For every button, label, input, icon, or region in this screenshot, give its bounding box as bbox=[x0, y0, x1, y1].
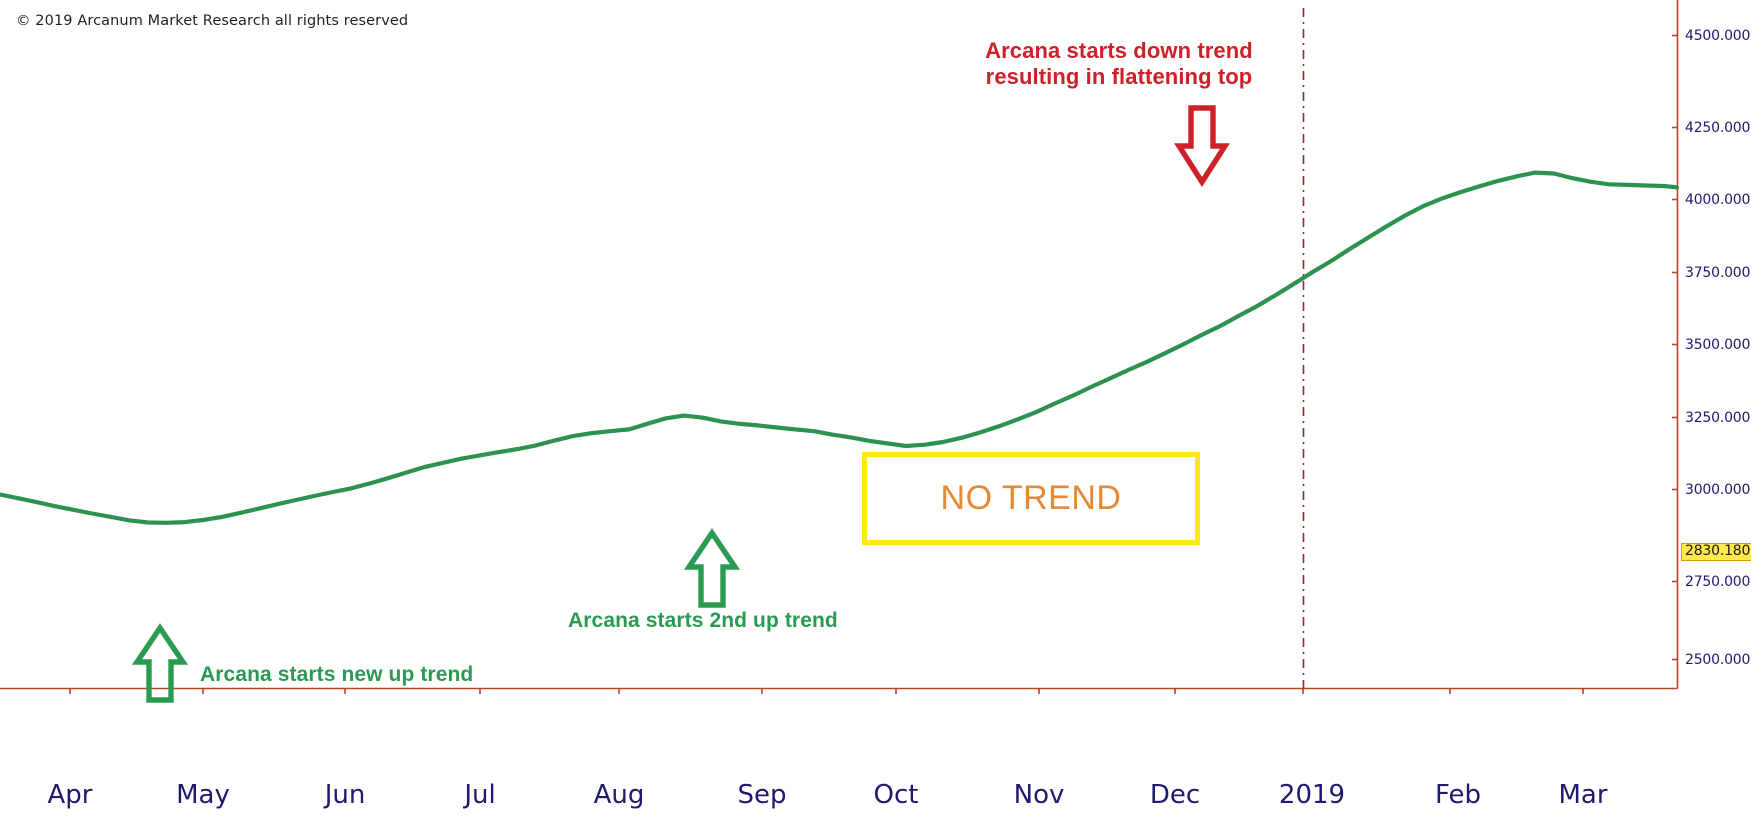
annotation-down-trend-line2: resulting in flattening top bbox=[985, 64, 1253, 90]
x-tick-label-dec: Dec bbox=[1150, 780, 1200, 810]
x-tick-label-feb: Feb bbox=[1435, 780, 1481, 810]
annotation-second-up-trend: Arcana starts 2nd up trend bbox=[568, 608, 838, 633]
y-tick-label-3250: 3250.0000 bbox=[1685, 410, 1751, 426]
y-tick-label-4500: 4500.0000 bbox=[1685, 28, 1751, 44]
chart-screenshot: © 2019 Arcanum Market Research all right… bbox=[0, 0, 1751, 828]
y-tick-label-3000: 3000.0000 bbox=[1685, 482, 1751, 498]
y-tick-label-2500: 2500.0000 bbox=[1685, 652, 1751, 668]
no-trend-callout-box: NO TREND bbox=[862, 452, 1200, 545]
y-tick-label-2750: 2750.0000 bbox=[1685, 574, 1751, 590]
annotation-new-up-trend: Arcana starts new up trend bbox=[200, 662, 473, 687]
x-tick-label-2019: 2019 bbox=[1279, 780, 1345, 810]
no-trend-label: NO TREND bbox=[941, 479, 1122, 518]
y-tick-label-4000: 4000.0000 bbox=[1685, 192, 1751, 208]
x-tick-label-nov: Nov bbox=[1014, 780, 1065, 810]
x-tick-label-sep: Sep bbox=[737, 780, 786, 810]
up-arrow-icon-second-trend bbox=[689, 533, 735, 605]
price-line bbox=[0, 173, 1677, 523]
x-tick-label-oct: Oct bbox=[874, 780, 919, 810]
annotation-down-trend: Arcana starts down trend resulting in fl… bbox=[985, 38, 1253, 90]
x-tick-label-apr: Apr bbox=[48, 780, 93, 810]
y-axis-ticks bbox=[1672, 36, 1677, 660]
price-chart[interactable] bbox=[0, 0, 1751, 828]
x-tick-label-jun: Jun bbox=[325, 780, 366, 810]
current-price-badge[interactable]: 2830.1800 bbox=[1681, 543, 1751, 561]
x-tick-label-mar: Mar bbox=[1558, 780, 1607, 810]
down-arrow-icon-down-trend bbox=[1179, 108, 1225, 182]
annotation-down-trend-line1: Arcana starts down trend bbox=[985, 38, 1253, 64]
y-tick-label-3750: 3750.0000 bbox=[1685, 265, 1751, 281]
x-tick-label-aug: Aug bbox=[594, 780, 645, 810]
x-tick-label-may: May bbox=[176, 780, 230, 810]
y-tick-label-4250: 4250.0000 bbox=[1685, 120, 1751, 136]
x-tick-label-jul: Jul bbox=[464, 780, 495, 810]
y-tick-label-3500: 3500.0000 bbox=[1685, 337, 1751, 353]
